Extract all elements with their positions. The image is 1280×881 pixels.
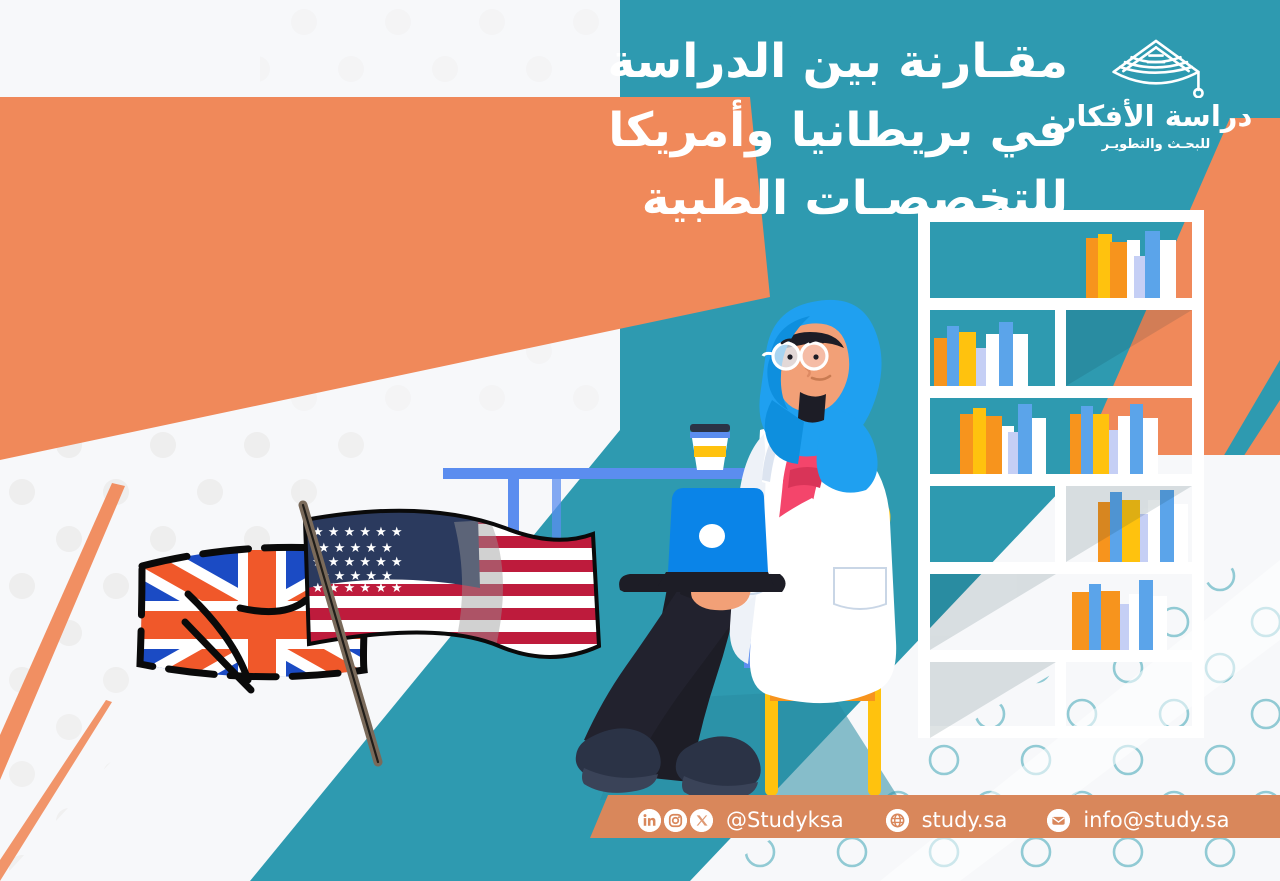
svg-text:★ ★ ★ ★ ★ ★: ★ ★ ★ ★ ★ ★: [312, 525, 403, 540]
email-label[interactable]: info@study.sa: [1083, 808, 1229, 832]
globe-icon[interactable]: [886, 809, 909, 832]
poster-canvas: ★ ★ ★ ★ ★ ★ ★ ★ ★ ★ ★ ★ ★ ★ ★ ★ ★ ★ ★ ★ …: [0, 0, 1280, 881]
social-handle[interactable]: @Studyksa: [726, 808, 844, 832]
instagram-icon[interactable]: [664, 809, 687, 832]
x-twitter-icon[interactable]: [690, 809, 713, 832]
website-label[interactable]: study.sa: [922, 808, 1008, 832]
website-group[interactable]: study.sa: [886, 808, 1008, 832]
contact-info: @Studyksa study.sa: [0, 795, 1280, 845]
brand-tagline: للبحـث والتطويـر: [1102, 137, 1211, 152]
brand-logo: دراسة الأفكار للبحـث والتطويـر: [1056, 36, 1256, 166]
usa-flag: ★ ★ ★ ★ ★ ★ ★ ★ ★ ★ ★ ★ ★ ★ ★ ★ ★ ★ ★ ★ …: [298, 505, 610, 762]
graduation-cap-icon: [1106, 36, 1206, 98]
linkedin-icon[interactable]: [638, 809, 661, 832]
social-group[interactable]: @Studyksa: [638, 808, 844, 832]
email-group[interactable]: info@study.sa: [1047, 808, 1229, 832]
page-title: مقـارنة بين الدراسة في بريطانيا وأمريكا …: [568, 28, 1068, 234]
svg-text:★ ★ ★ ★ ★: ★ ★ ★ ★ ★: [318, 541, 393, 556]
brand-name: دراسة الأفكار: [1060, 102, 1253, 131]
title-line-1: مقـارنة بين الدراسة: [568, 28, 1068, 97]
title-line-2: في بريطانيا وأمريكا: [568, 97, 1068, 166]
title-line-3: للتخصصـات الطبية: [568, 165, 1068, 234]
envelope-icon[interactable]: [1047, 809, 1070, 832]
